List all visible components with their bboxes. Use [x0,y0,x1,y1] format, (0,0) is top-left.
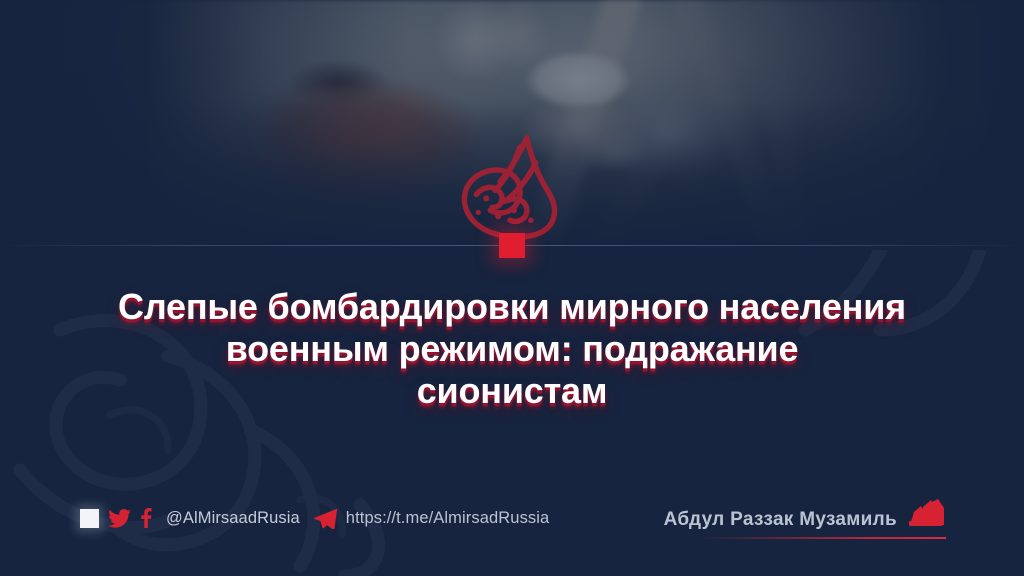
signature-pen-mark-icon [904,498,946,532]
footer: @AlMirsaadRusia https://t.me/AlmirsadRus… [0,486,1024,576]
square-icon[interactable] [80,509,99,528]
al-mirsaad-logo-icon [448,135,576,240]
author-underline [698,537,946,539]
twitter-icon[interactable] [108,509,131,528]
social-links: @AlMirsaadRusia https://t.me/AlmirsadRus… [80,504,549,532]
social-handle[interactable]: @AlMirsaadRusia [166,509,300,528]
facebook-icon[interactable] [140,508,152,528]
telegram-url[interactable]: https://t.me/AlmirsadRussia [346,509,550,528]
brand-accent-square [499,233,525,258]
telegram-icon[interactable] [314,508,337,529]
author-name: Абдул Раззак Музамиль [664,510,897,532]
page-title: Слепые бомбардировки мирного населения в… [72,286,952,411]
author-credit: Абдул Раззак Музамиль [664,498,946,532]
news-card: Слепые бомбардировки мирного населения в… [0,0,1024,576]
